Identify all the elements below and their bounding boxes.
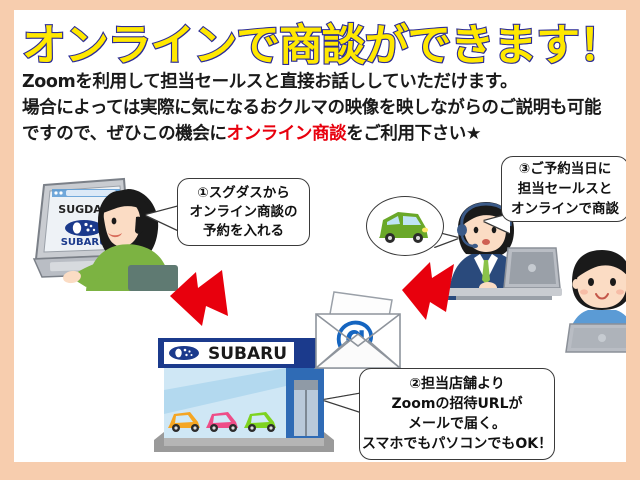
envelope-svg: @	[310, 288, 406, 372]
green-car-thought-bubble	[366, 196, 444, 256]
callout-step-1-line-3: 予約を入れる	[203, 222, 284, 241]
callout-step-3-line-2: 担当セールスと	[518, 179, 613, 199]
callout-step-2-line-3: メールで届く。	[408, 414, 506, 434]
body-line-3-highlight: オンライン商談	[227, 124, 347, 144]
green-car-icon	[376, 206, 434, 246]
person-at-laptop-illustration: SUGDAS SUBARU	[32, 173, 178, 291]
body-line-1: Zoomを利用して担当セールスと直接お話ししていただけます。	[22, 72, 517, 93]
callout-step-2-line-4: スマホでもパソコンでもOK！	[362, 434, 552, 454]
bubble-1-tail	[146, 206, 180, 231]
body-line-3-post: をご利用下さい★	[346, 124, 481, 144]
body-line-3: ですので、ぜひこの機会にオンライン商談をご利用下さい★	[22, 124, 481, 145]
page-title: オンラインで商談ができます！！	[22, 22, 626, 70]
callout-step-2-line-2: Zoomの招待URLが	[391, 394, 522, 414]
person-at-laptop-svg: SUGDAS SUBARU	[32, 173, 178, 291]
customer-svg	[562, 248, 626, 356]
red-arrow-down-left	[166, 268, 242, 334]
body-line-2: 場合によっては実際に気になるおクルマの映像を映しながらのご説明も可能	[22, 98, 601, 119]
callout-step-3-line-3: オンラインで商談	[511, 199, 619, 219]
callout-step-2-line-1: ②担当店舗より	[409, 374, 505, 394]
bubble-2-tail	[324, 393, 364, 413]
subaru-dealership-illustration: SUBARU	[154, 328, 334, 460]
body-line-3-pre: ですので、ぜひこの機会に	[22, 124, 227, 144]
callout-step-1-line-1: ①スグダスから	[197, 184, 289, 203]
callout-step-1-line-2: オンライン商談の	[190, 203, 298, 222]
email-envelope-illustration: @	[310, 288, 406, 372]
red-arrow-up-right-svg	[396, 256, 468, 328]
red-arrow-up-right	[396, 256, 468, 328]
callout-step-1: ①スグダスから オンライン商談の 予約を入れる	[177, 178, 310, 246]
poster-root: オンラインで商談ができます！！ Zoomを利用して担当セールスと直接お話ししてい…	[0, 0, 640, 480]
callout-step-3-line-1: ③ご予約当日に	[519, 159, 611, 179]
callout-step-2: ②担当店舗より Zoomの招待URLが メールで届く。 スマホでもパソコンでもO…	[359, 368, 555, 460]
red-arrow-down-left-svg	[166, 268, 242, 334]
poster-sheet: オンラインで商談ができます！！ Zoomを利用して担当セールスと直接お話ししてい…	[14, 10, 626, 462]
dealership-sign-text: SUBARU	[208, 344, 287, 364]
callout-step-3: ③ご予約当日に 担当セールスと オンラインで商談	[501, 156, 626, 222]
customer-with-laptop-illustration	[562, 248, 626, 356]
dealership-svg: SUBARU	[154, 328, 334, 460]
